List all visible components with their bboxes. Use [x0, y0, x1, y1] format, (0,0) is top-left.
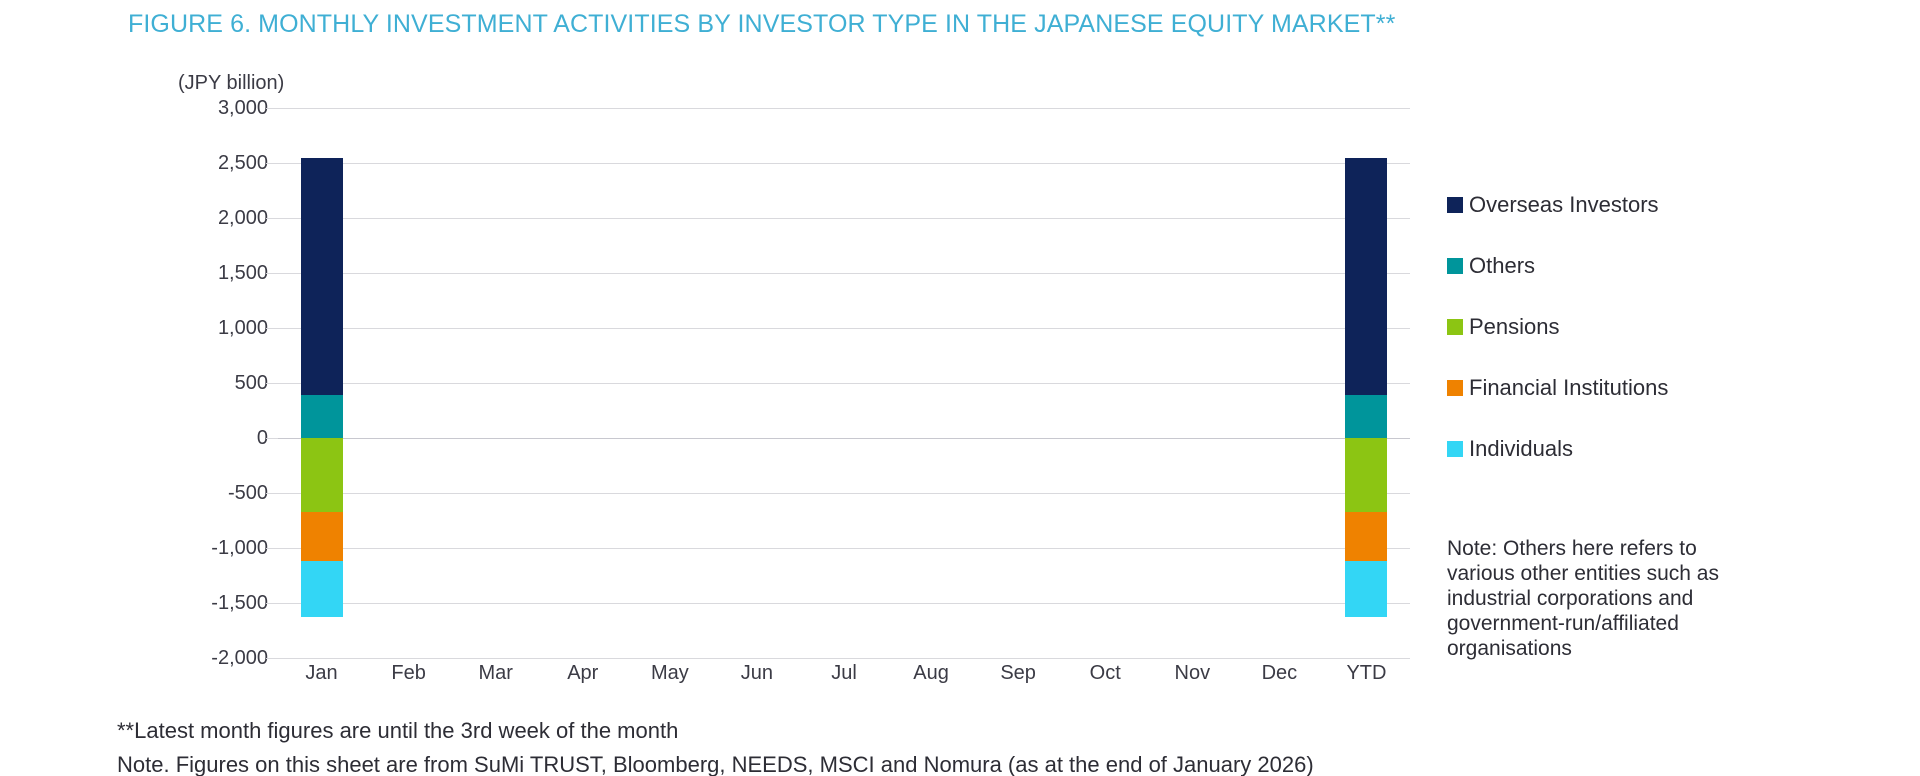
bar-column[interactable] — [997, 108, 1039, 658]
page-title: FIGURE 6. MONTHLY INVESTMENT ACTIVITIES … — [128, 10, 1395, 39]
x-axis-tick-label: Jul — [831, 662, 857, 685]
bar-segment[interactable] — [301, 561, 343, 617]
x-axis-tick-label: YTD — [1346, 662, 1386, 685]
legend-swatch-icon — [1447, 319, 1463, 335]
y-axis-tick-mark — [266, 438, 278, 439]
bar-column[interactable] — [1171, 108, 1213, 658]
x-axis-tick-label: Jan — [305, 662, 337, 685]
legend-swatch-icon — [1447, 258, 1463, 274]
x-axis-tick-label: Apr — [567, 662, 598, 685]
y-axis-tick-label: -2,000 — [178, 647, 268, 670]
legend-item-label: Individuals — [1469, 436, 1573, 462]
x-axis-tick-label: Feb — [391, 662, 425, 685]
bar-column[interactable] — [910, 108, 952, 658]
bar-segment[interactable] — [301, 158, 343, 396]
y-axis-tick-mark — [266, 383, 278, 384]
y-axis-tick-labels: 3,0002,5002,0001,5001,0005000-500-1,000-… — [178, 108, 268, 658]
footnote-sources: Note. Figures on this sheet are from SuM… — [117, 752, 1314, 776]
footnote-latest-month: **Latest month figures are until the 3rd… — [117, 718, 678, 744]
gridline — [278, 658, 1410, 659]
y-axis-tick-mark — [266, 218, 278, 219]
y-axis-tick-mark — [266, 108, 278, 109]
bar-segment[interactable] — [1345, 395, 1387, 438]
x-axis-tick-label: Mar — [478, 662, 512, 685]
plot-area — [278, 108, 1410, 658]
legend-swatch-icon — [1447, 197, 1463, 213]
x-axis-tick-label: May — [651, 662, 689, 685]
y-axis-tick-label: 500 — [178, 372, 268, 395]
legend-item[interactable]: Pensions — [1447, 296, 1777, 357]
bar-column[interactable] — [649, 108, 691, 658]
y-axis-tick-label: 0 — [178, 427, 268, 450]
legend-item-label: Overseas Investors — [1469, 192, 1659, 218]
bar-segment[interactable] — [1345, 438, 1387, 512]
bar-column[interactable] — [823, 108, 865, 658]
bar-segment[interactable] — [301, 512, 343, 562]
y-axis-tick-mark — [266, 328, 278, 329]
bar-segment[interactable] — [1345, 158, 1387, 396]
y-axis-tick-label: -1,500 — [178, 592, 268, 615]
y-axis-tick-mark — [266, 163, 278, 164]
y-axis-tick-mark — [266, 273, 278, 274]
y-axis-tick-mark — [266, 493, 278, 494]
y-axis-tick-mark — [266, 603, 278, 604]
y-axis-tick-label: 2,500 — [178, 152, 268, 175]
y-axis-unit-label: (JPY billion) — [178, 72, 284, 95]
legend-swatch-icon — [1447, 380, 1463, 396]
legend-item[interactable]: Individuals — [1447, 418, 1777, 479]
bar-column[interactable] — [1345, 108, 1387, 658]
y-axis-tick-mark — [266, 658, 278, 659]
x-axis-tick-label: Jun — [741, 662, 773, 685]
y-axis-tick-label: -1,000 — [178, 537, 268, 560]
legend-item-label: Pensions — [1469, 314, 1560, 340]
chart-legend: Overseas InvestorsOthersPensionsFinancia… — [1447, 174, 1777, 479]
x-axis-tick-label: Oct — [1090, 662, 1121, 685]
y-axis-tick-label: 1,500 — [178, 262, 268, 285]
legend-swatch-icon — [1447, 441, 1463, 457]
x-axis-tick-label: Aug — [913, 662, 949, 685]
bar-column[interactable] — [475, 108, 517, 658]
bar-column[interactable] — [1084, 108, 1126, 658]
y-axis-tick-label: 3,000 — [178, 97, 268, 120]
bar-segment[interactable] — [301, 438, 343, 512]
x-axis-tick-label: Nov — [1175, 662, 1211, 685]
bar-column[interactable] — [301, 108, 343, 658]
bar-segment[interactable] — [1345, 512, 1387, 562]
bar-column[interactable] — [1258, 108, 1300, 658]
x-axis-tick-labels: JanFebMarAprMayJunJulAugSepOctNovDecYTD — [278, 662, 1410, 696]
y-axis-tick-label: 1,000 — [178, 317, 268, 340]
x-axis-tick-label: Dec — [1262, 662, 1298, 685]
legend-item-label: Financial Institutions — [1469, 375, 1668, 401]
y-axis-tick-label: 2,000 — [178, 207, 268, 230]
legend-item[interactable]: Others — [1447, 235, 1777, 296]
bar-column[interactable] — [736, 108, 778, 658]
bar-segment[interactable] — [1345, 561, 1387, 617]
legend-item-label: Others — [1469, 253, 1535, 279]
figure-panel: FIGURE 6. MONTHLY INVESTMENT ACTIVITIES … — [0, 0, 1920, 776]
bar-column[interactable] — [562, 108, 604, 658]
y-axis-tick-mark — [266, 548, 278, 549]
legend-note: Note: Others here refers to various othe… — [1447, 536, 1767, 661]
x-axis-tick-label: Sep — [1000, 662, 1036, 685]
bar-column[interactable] — [388, 108, 430, 658]
y-axis-tick-label: -500 — [178, 482, 268, 505]
legend-item[interactable]: Financial Institutions — [1447, 357, 1777, 418]
bar-segment[interactable] — [301, 395, 343, 438]
legend-item[interactable]: Overseas Investors — [1447, 174, 1777, 235]
